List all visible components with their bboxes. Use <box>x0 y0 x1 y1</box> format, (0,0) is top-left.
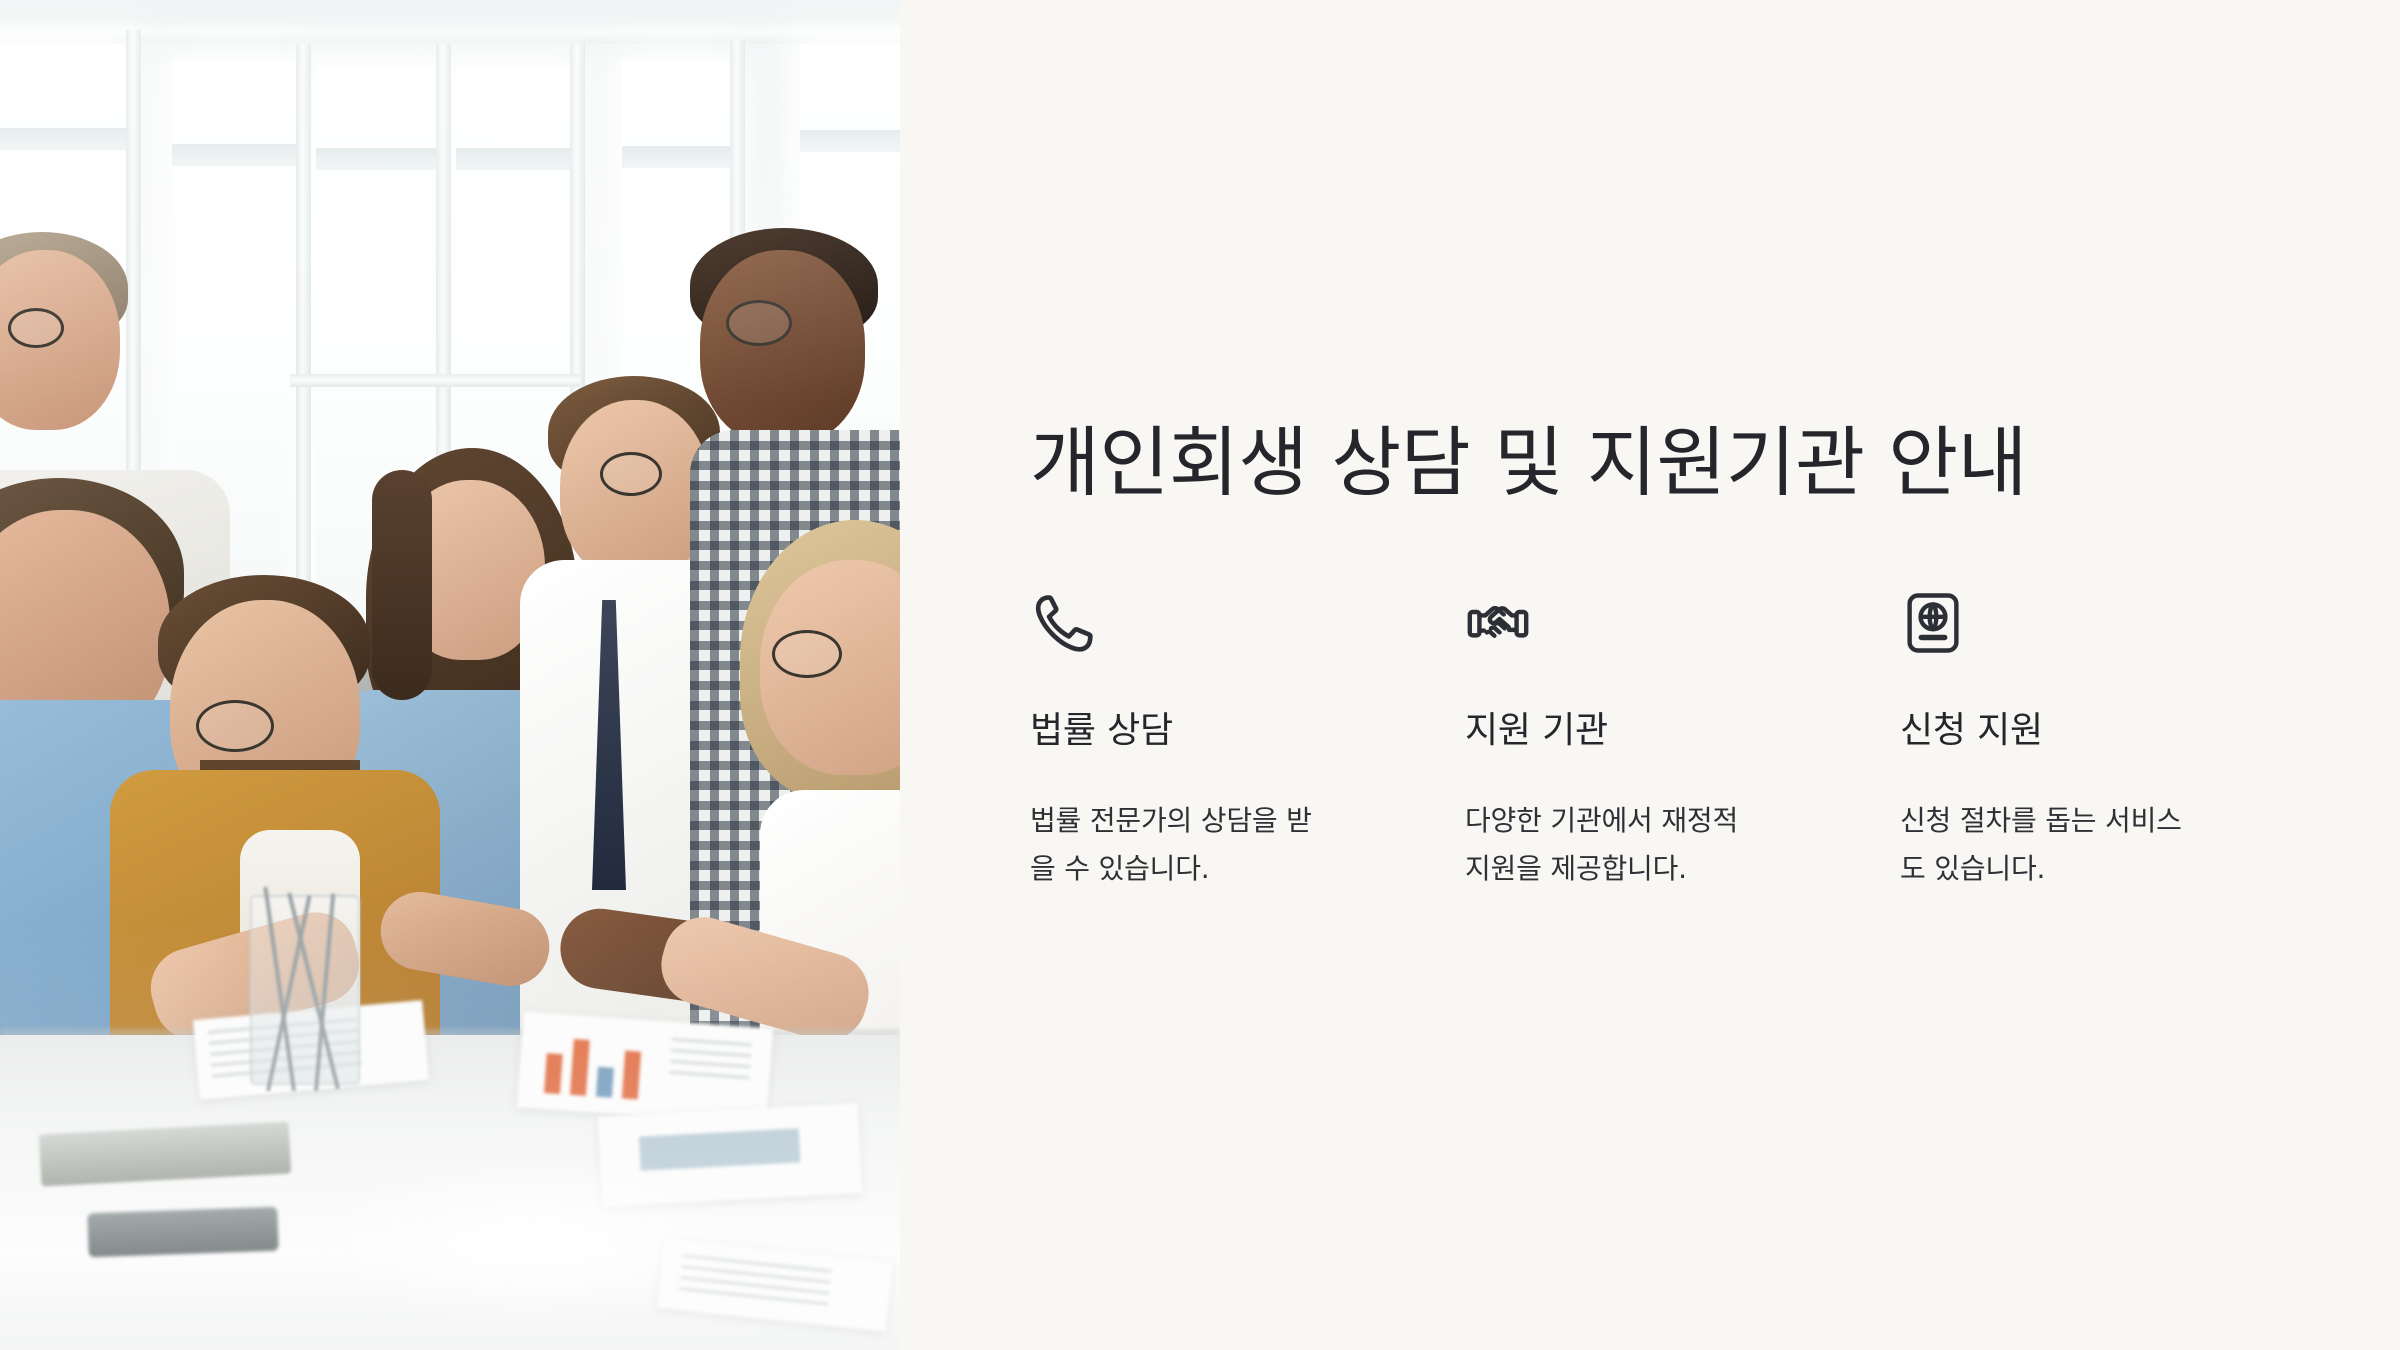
window-blind <box>456 148 574 170</box>
person-hair-front <box>372 470 432 700</box>
feature-description: 신청 절차를 돕는 서비스도 있습니다. <box>1900 797 2195 893</box>
table-glare <box>300 1150 760 1330</box>
pen-holder <box>250 895 360 1085</box>
phone-icon <box>1030 590 1096 656</box>
window-blind <box>0 128 126 150</box>
handshake-icon <box>1465 590 1531 656</box>
feature-title: 법률 상담 <box>1030 708 1465 755</box>
photo-scene <box>0 0 900 1350</box>
eyeglasses <box>600 452 662 496</box>
slide-root: 개인회생 상담 및 지원기관 안내 법률 상담 법률 전문가의 상담을 받을 수… <box>0 0 2400 1350</box>
content-panel: 개인회생 상담 및 지원기관 안내 법률 상담 법률 전문가의 상담을 받을 수… <box>900 0 2400 1350</box>
eyeglasses <box>772 630 842 678</box>
window-blind <box>316 148 440 170</box>
window-mullion <box>290 374 580 387</box>
document-chart <box>517 1011 773 1124</box>
feature-description: 다양한 기관에서 재정적 지원을 제공합니다. <box>1465 797 1755 893</box>
feature-title: 지원 기관 <box>1465 708 1900 755</box>
feature-item-legal-consult: 법률 상담 법률 전문가의 상담을 받을 수 있습니다. <box>1030 590 1465 893</box>
eyeglasses <box>8 308 64 348</box>
feature-item-support-agency: 지원 기관 다양한 기관에서 재정적 지원을 제공합니다. <box>1465 590 1900 893</box>
smartphone <box>87 1207 278 1258</box>
window-blind <box>800 130 900 152</box>
page-title: 개인회생 상담 및 지원기관 안내 <box>1030 418 2027 508</box>
eyeglasses <box>726 300 792 346</box>
feature-list: 법률 상담 법률 전문가의 상담을 받을 수 있습니다. <box>1030 590 2250 893</box>
window-blind <box>172 144 300 166</box>
hero-photo <box>0 0 900 1350</box>
window-mullion <box>296 44 311 654</box>
feature-item-application-support: 신청 지원 신청 절차를 돕는 서비스도 있습니다. <box>1900 590 2250 893</box>
person-head <box>700 250 865 445</box>
passport-globe-icon <box>1900 590 1966 656</box>
feature-description: 법률 전문가의 상담을 받을 수 있습니다. <box>1030 797 1330 893</box>
window-blind <box>622 146 734 168</box>
eyeglasses <box>196 700 274 752</box>
feature-title: 신청 지원 <box>1900 708 2250 755</box>
